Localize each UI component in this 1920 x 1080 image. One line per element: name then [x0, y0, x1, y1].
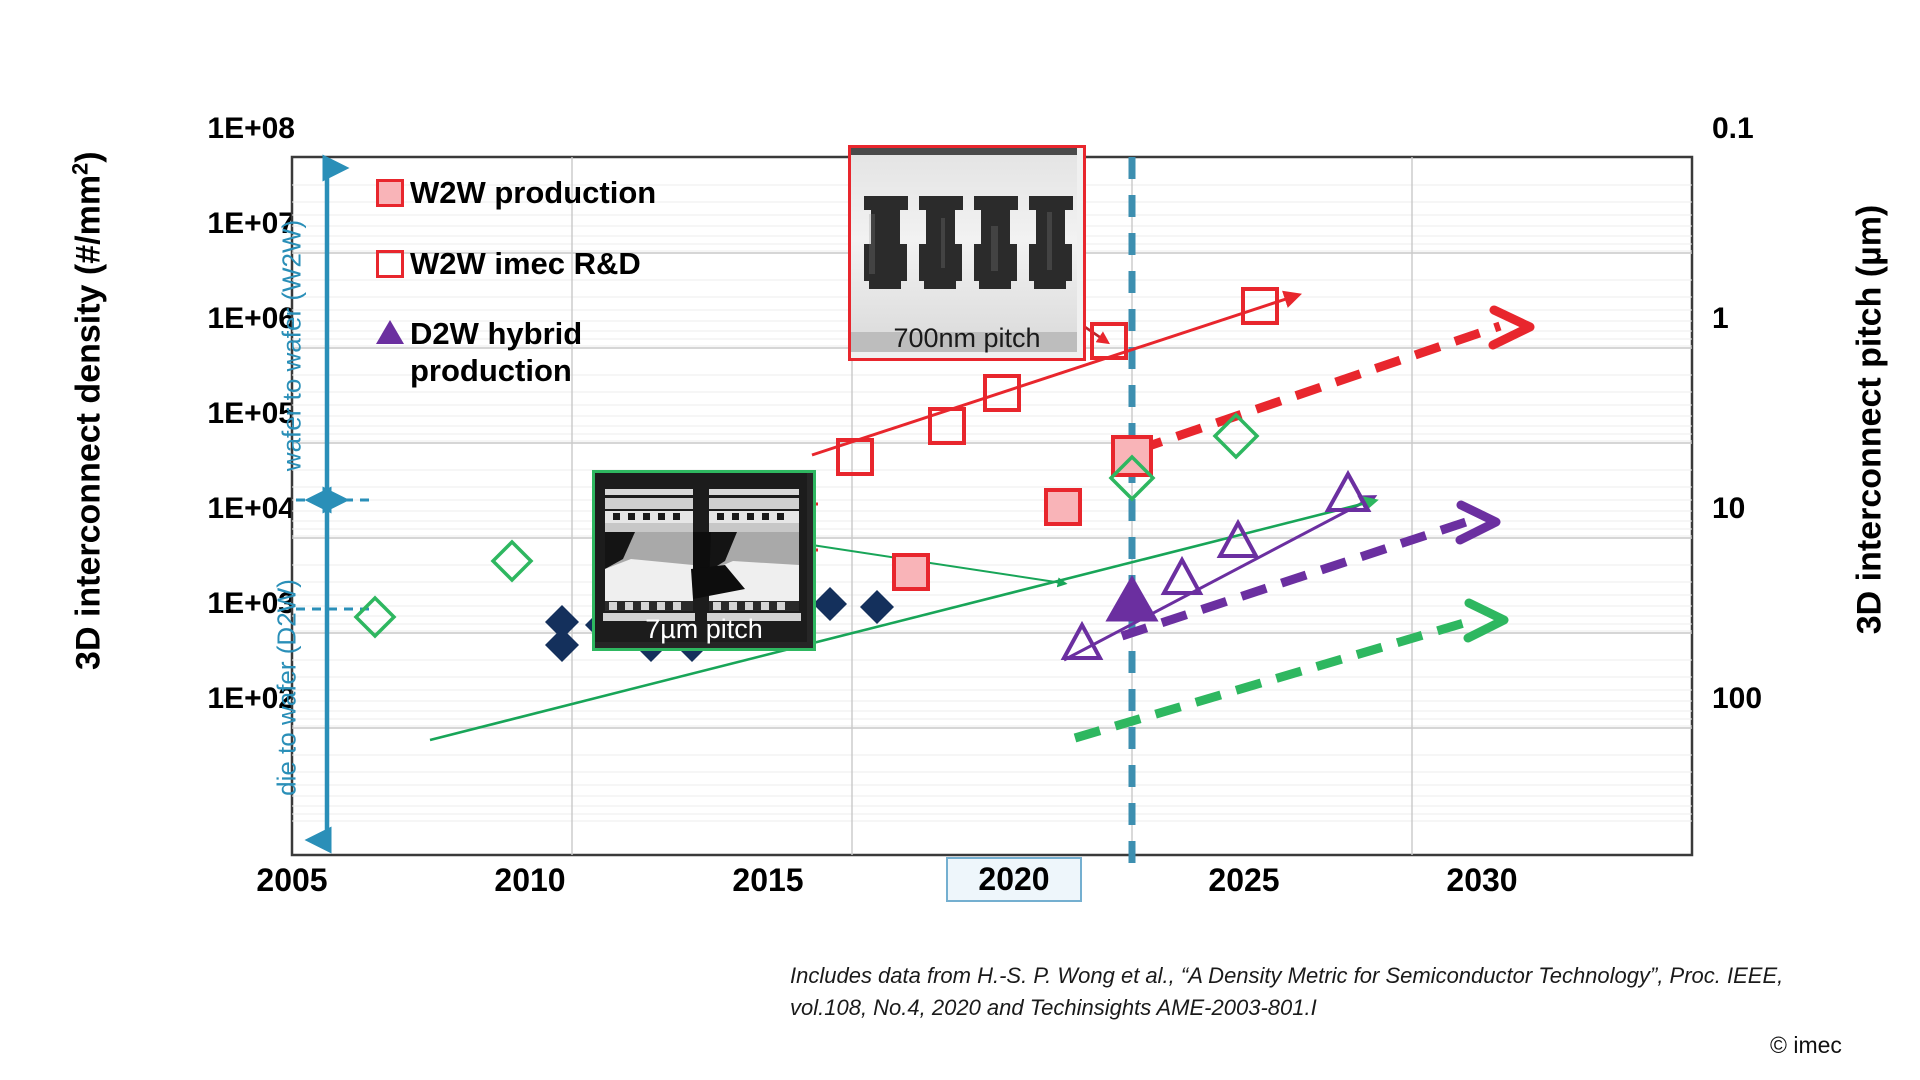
- legend-label: D2W hybrid production: [410, 316, 660, 389]
- w2w-range-label: wafer to wafer (W2W): [277, 176, 308, 516]
- chart-legend: W2W production W2W imec R&D D2W hybrid p…: [370, 175, 660, 423]
- footnote: Includes data from H.-S. P. Wong et al.,…: [790, 960, 1800, 1024]
- filled-square-icon: [370, 179, 410, 207]
- d2w-range-label: die to wafer (D2W): [272, 523, 303, 853]
- footnote-line-1: Includes data from H.-S. P. Wong et al.,…: [790, 960, 1800, 992]
- inset-label-7um: 7µm pitch: [595, 614, 813, 645]
- legend-item-d2w-hybrid-production: D2W hybrid production: [370, 316, 660, 389]
- data-point: [894, 555, 928, 589]
- open-square-icon: [370, 250, 410, 278]
- legend-item-w2w-production: W2W production: [370, 175, 660, 212]
- filled-triangle-icon: [370, 320, 410, 344]
- legend-item-w2w-imec-rnd: W2W imec R&D: [370, 246, 660, 283]
- legend-label: W2W imec R&D: [410, 246, 641, 283]
- copyright-notice: © imec: [1770, 1032, 1842, 1059]
- 700nm-pitch-inset: 700nm pitch: [848, 145, 1086, 361]
- footnote-line-2: vol.108, No.4, 2020 and Techinsights AME…: [790, 992, 1800, 1024]
- slide-root: 3D interconnect density (#/mm2) 3D inter…: [0, 0, 1920, 1080]
- data-point: [1046, 490, 1080, 524]
- legend-label: W2W production: [410, 175, 656, 212]
- inset-label-700nm: 700nm pitch: [851, 323, 1083, 354]
- 7um-pitch-inset: 7µm pitch: [592, 470, 816, 651]
